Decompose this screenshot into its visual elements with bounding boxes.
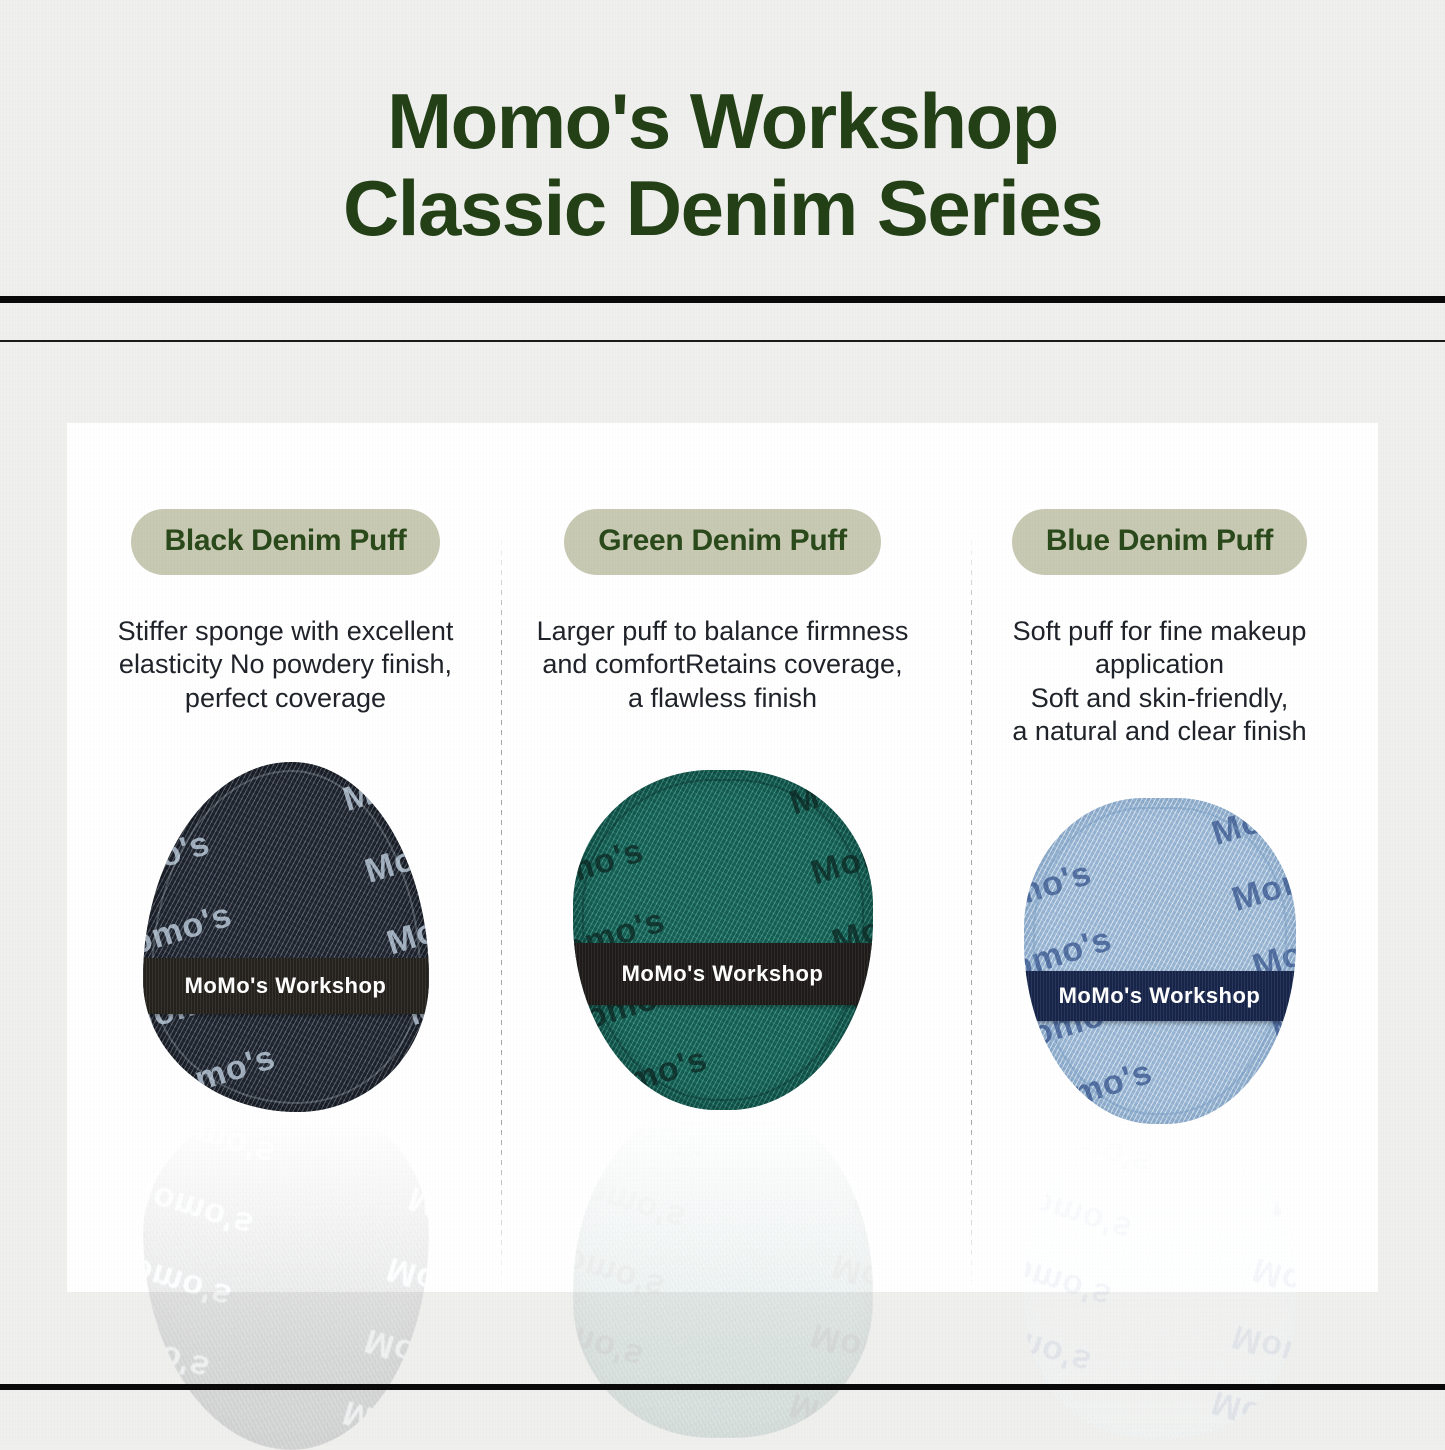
divider-rule-top-thin xyxy=(0,340,1445,342)
product-column-green: Green Denim Puff Larger puff to balance … xyxy=(504,423,941,1292)
header-banner: Momo's Workshop Classic Denim Series xyxy=(0,0,1445,298)
product-badge-blue: Blue Denim Puff xyxy=(1012,509,1307,575)
title-line-2: Classic Denim Series xyxy=(0,165,1445,252)
product-comparison-card: Black Denim Puff Stiffer sponge with exc… xyxy=(67,423,1378,1292)
product-strap-band-black: MoMo's Workshop xyxy=(143,958,429,1014)
product-image-black-puff: Momo'sMomo's Momo'sMomo's Momo'sMomo's M… xyxy=(143,762,429,1112)
page-title: Momo's Workshop Classic Denim Series xyxy=(0,78,1445,253)
product-badge-black: Black Denim Puff xyxy=(131,509,441,575)
product-column-blue: Blue Denim Puff Soft puff for fine makeu… xyxy=(941,423,1378,1292)
product-description-blue: Soft puff for fine makeup application So… xyxy=(1012,615,1306,749)
product-description-green: Larger puff to balance firmness and comf… xyxy=(537,615,909,715)
product-strap-band-blue: MoMo's Workshop xyxy=(1024,971,1296,1021)
product-reflection-black: Momo'sMomo's Momo'sMomo's Momo'sMomo's M… xyxy=(143,1100,429,1450)
product-image-stage-blue: Momo'sMomo's Momo'sMomo's Momo'sMomo's M… xyxy=(941,752,1378,1292)
divider-rule-top-thick xyxy=(0,296,1445,303)
product-image-stage-green: Momo'sMomo's Momo'sMomo's Momo'sMomo's M… xyxy=(504,752,941,1292)
product-description-black: Stiffer sponge with excellent elasticity… xyxy=(118,615,454,715)
product-strap-band-green: MoMo's Workshop xyxy=(573,943,873,1005)
divider-rule-bottom xyxy=(0,1384,1445,1390)
product-image-stage-black: Momo'sMomo's Momo'sMomo's Momo'sMomo's M… xyxy=(67,752,504,1292)
product-badge-green: Green Denim Puff xyxy=(564,509,881,575)
title-line-1: Momo's Workshop xyxy=(387,77,1058,165)
product-image-blue-puff: Momo'sMomo's Momo'sMomo's Momo'sMomo's M… xyxy=(1024,798,1296,1124)
product-image-green-puff: Momo'sMomo's Momo'sMomo's Momo'sMomo's M… xyxy=(573,770,873,1110)
product-column-black: Black Denim Puff Stiffer sponge with exc… xyxy=(67,423,504,1292)
